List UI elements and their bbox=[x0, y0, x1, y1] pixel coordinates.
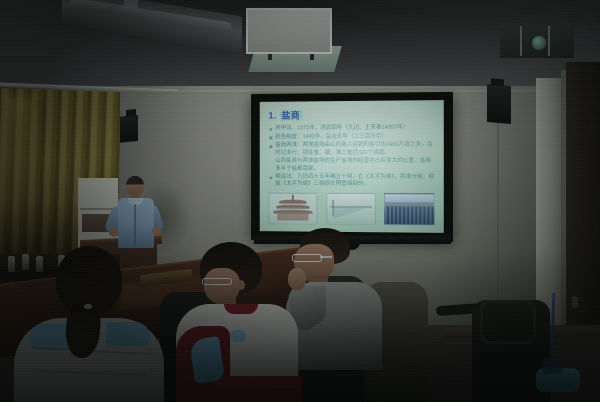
slide-bullet-list: 开中法：1371年，洪武四年（九边、王来奏14997年） 折色制度：1492年，… bbox=[268, 124, 435, 188]
presenter-torso bbox=[118, 198, 154, 248]
speaker-bracket bbox=[126, 109, 136, 117]
attendee-student bbox=[176, 242, 298, 402]
tracksuit-hem bbox=[212, 376, 302, 402]
slide-image-row bbox=[268, 193, 434, 226]
screen-surface: 1. 盐商 开中法：1371年，洪武四年（九边、王来奏14997年） 折色制度：… bbox=[260, 100, 444, 233]
presenter-head bbox=[126, 176, 144, 196]
hair-clip-icon bbox=[84, 304, 92, 309]
pagoda-roof bbox=[279, 200, 306, 204]
tracksuit-collar bbox=[224, 304, 258, 314]
attendee-elder bbox=[286, 228, 382, 370]
pagoda-base bbox=[277, 213, 308, 220]
glasses-icon bbox=[202, 278, 232, 285]
projector-vent bbox=[520, 26, 522, 56]
projector-lens-icon bbox=[532, 36, 546, 50]
presenter-hand-right bbox=[152, 226, 161, 235]
mop-head bbox=[542, 358, 562, 374]
doorway-recess[interactable] bbox=[566, 62, 600, 337]
tracksuit-blue-stripe bbox=[189, 336, 225, 384]
glasses-temple bbox=[320, 256, 332, 258]
slide-title-text: 盐商 bbox=[280, 110, 302, 120]
wall-pilaster bbox=[536, 78, 562, 328]
landscape-shape bbox=[333, 208, 367, 219]
wall-hook-icon bbox=[572, 296, 578, 308]
presenter-shirt-placket bbox=[134, 204, 136, 244]
wall-speaker-right bbox=[487, 84, 511, 124]
slide-bullet: 折色制度：1492年，弘治五年（二三百万引） bbox=[268, 133, 435, 141]
tracksuit-blue-accent bbox=[230, 330, 246, 342]
presenter-hand-left bbox=[109, 228, 119, 237]
speaker-bracket bbox=[491, 78, 504, 86]
attendee-ponytail bbox=[14, 246, 164, 402]
projector-mount-cage bbox=[246, 8, 332, 54]
pagoda-roof bbox=[276, 205, 309, 209]
slide-title-number: 1. bbox=[268, 111, 276, 121]
projector-vent bbox=[548, 26, 550, 56]
seminar-room-photo: 1. 盐商 开中法：1371年，洪武四年（九边、王来奏14997年） 折色制度：… bbox=[0, 0, 600, 402]
chair-back-frame bbox=[480, 300, 536, 344]
projection-screen: 1. 盐商 开中法：1371年，洪武四年（九边、王来奏14997年） 折色制度：… bbox=[251, 92, 453, 242]
slide-bullet: 纲运法：万历四十五年确立十纲，立《太平为纲》，两淮分纲，纲盐《太平为纲》三纲纲长… bbox=[268, 174, 435, 189]
attendee-ear bbox=[238, 280, 245, 290]
pagoda-photo-icon bbox=[268, 193, 317, 225]
slide-bullet: 山西盐商与两淮盐场的生产盐场的经营中占有很大的比重，盐商多半于盐都南部。 bbox=[268, 158, 435, 173]
aerial-city-photo-icon bbox=[384, 193, 435, 226]
presentation-slide: 1. 盐商 开中法：1371年，洪武四年（九边、王来奏14997年） 折色制度：… bbox=[260, 100, 444, 233]
slide-bullet: 开中法：1371年，洪武四年（九边、王来奏14997年） bbox=[268, 124, 435, 132]
slide-bullet: 盐商两淮：两淮盐场由山西商人运销的盐引达8400万道之多，当时记多行、销往省、镇… bbox=[268, 142, 435, 157]
jacket-collar-right bbox=[106, 322, 150, 346]
aerial-city bbox=[385, 206, 434, 223]
landscape-photo-icon bbox=[326, 193, 376, 225]
slide-title: 1. 盐商 bbox=[268, 107, 435, 121]
